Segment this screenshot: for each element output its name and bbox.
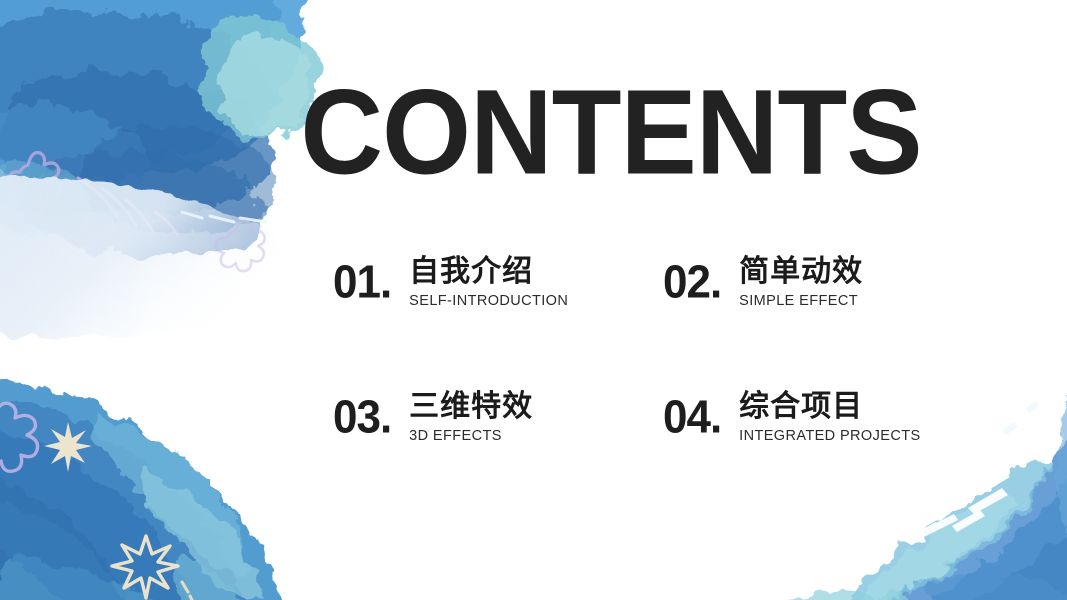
item-text-group: 三维特效 3D EFFECTS — [409, 390, 533, 445]
sparkle-star-large-icon — [112, 536, 178, 598]
sparkle-streaks-small-icon — [1002, 401, 1039, 435]
item-text-group: 综合项目 INTEGRATED PROJECTS — [739, 390, 920, 445]
sparkle-dashes-icon — [172, 582, 196, 600]
item-number: 03. — [333, 390, 391, 441]
item-title-cn: 三维特效 — [409, 390, 533, 423]
slide-canvas: CONTENTS 01. 自我介绍 SELF-INTRODUCTION 02. … — [0, 0, 1067, 600]
item-title-cn: 简单动效 — [739, 255, 863, 288]
watercolor-splash-bottom-left — [0, 320, 370, 600]
sparkle-star-icon — [44, 422, 92, 472]
shooting-streaks-icon — [78, 178, 178, 236]
item-number: 01. — [333, 255, 391, 306]
title-block: CONTENTS — [0, 78, 1067, 186]
item-title-en: INTEGRATED PROJECTS — [739, 429, 920, 445]
star-outline-icon — [0, 403, 38, 471]
watercolor-gradient-band-left — [0, 170, 340, 390]
pale-star-icon — [216, 220, 265, 271]
content-item-04[interactable]: 04. 综合项目 INTEGRATED PROJECTS — [663, 390, 993, 525]
page-title: CONTENTS — [300, 72, 921, 193]
item-title-cn: 自我介绍 — [409, 255, 568, 288]
item-number: 04. — [663, 390, 721, 441]
item-title-en: 3D EFFECTS — [409, 429, 533, 445]
watercolor-detail-shapes — [0, 500, 260, 600]
item-title-en: SELF-INTRODUCTION — [409, 294, 568, 310]
item-text-group: 简单动效 SIMPLE EFFECT — [739, 255, 863, 310]
item-text-group: 自我介绍 SELF-INTRODUCTION — [409, 255, 568, 310]
content-item-03[interactable]: 03. 三维特效 3D EFFECTS — [333, 390, 663, 525]
contents-list: 01. 自我介绍 SELF-INTRODUCTION 02. 简单动效 SIMP… — [333, 255, 993, 525]
item-title-en: SIMPLE EFFECT — [739, 294, 863, 310]
watercolor-base-shapes — [0, 379, 296, 600]
white-dash-streaks-icon — [182, 212, 266, 222]
content-item-02[interactable]: 02. 简单动效 SIMPLE EFFECT — [663, 255, 993, 390]
item-title-cn: 综合项目 — [739, 390, 920, 423]
item-number: 02. — [663, 255, 721, 306]
content-item-01[interactable]: 01. 自我介绍 SELF-INTRODUCTION — [333, 255, 663, 390]
